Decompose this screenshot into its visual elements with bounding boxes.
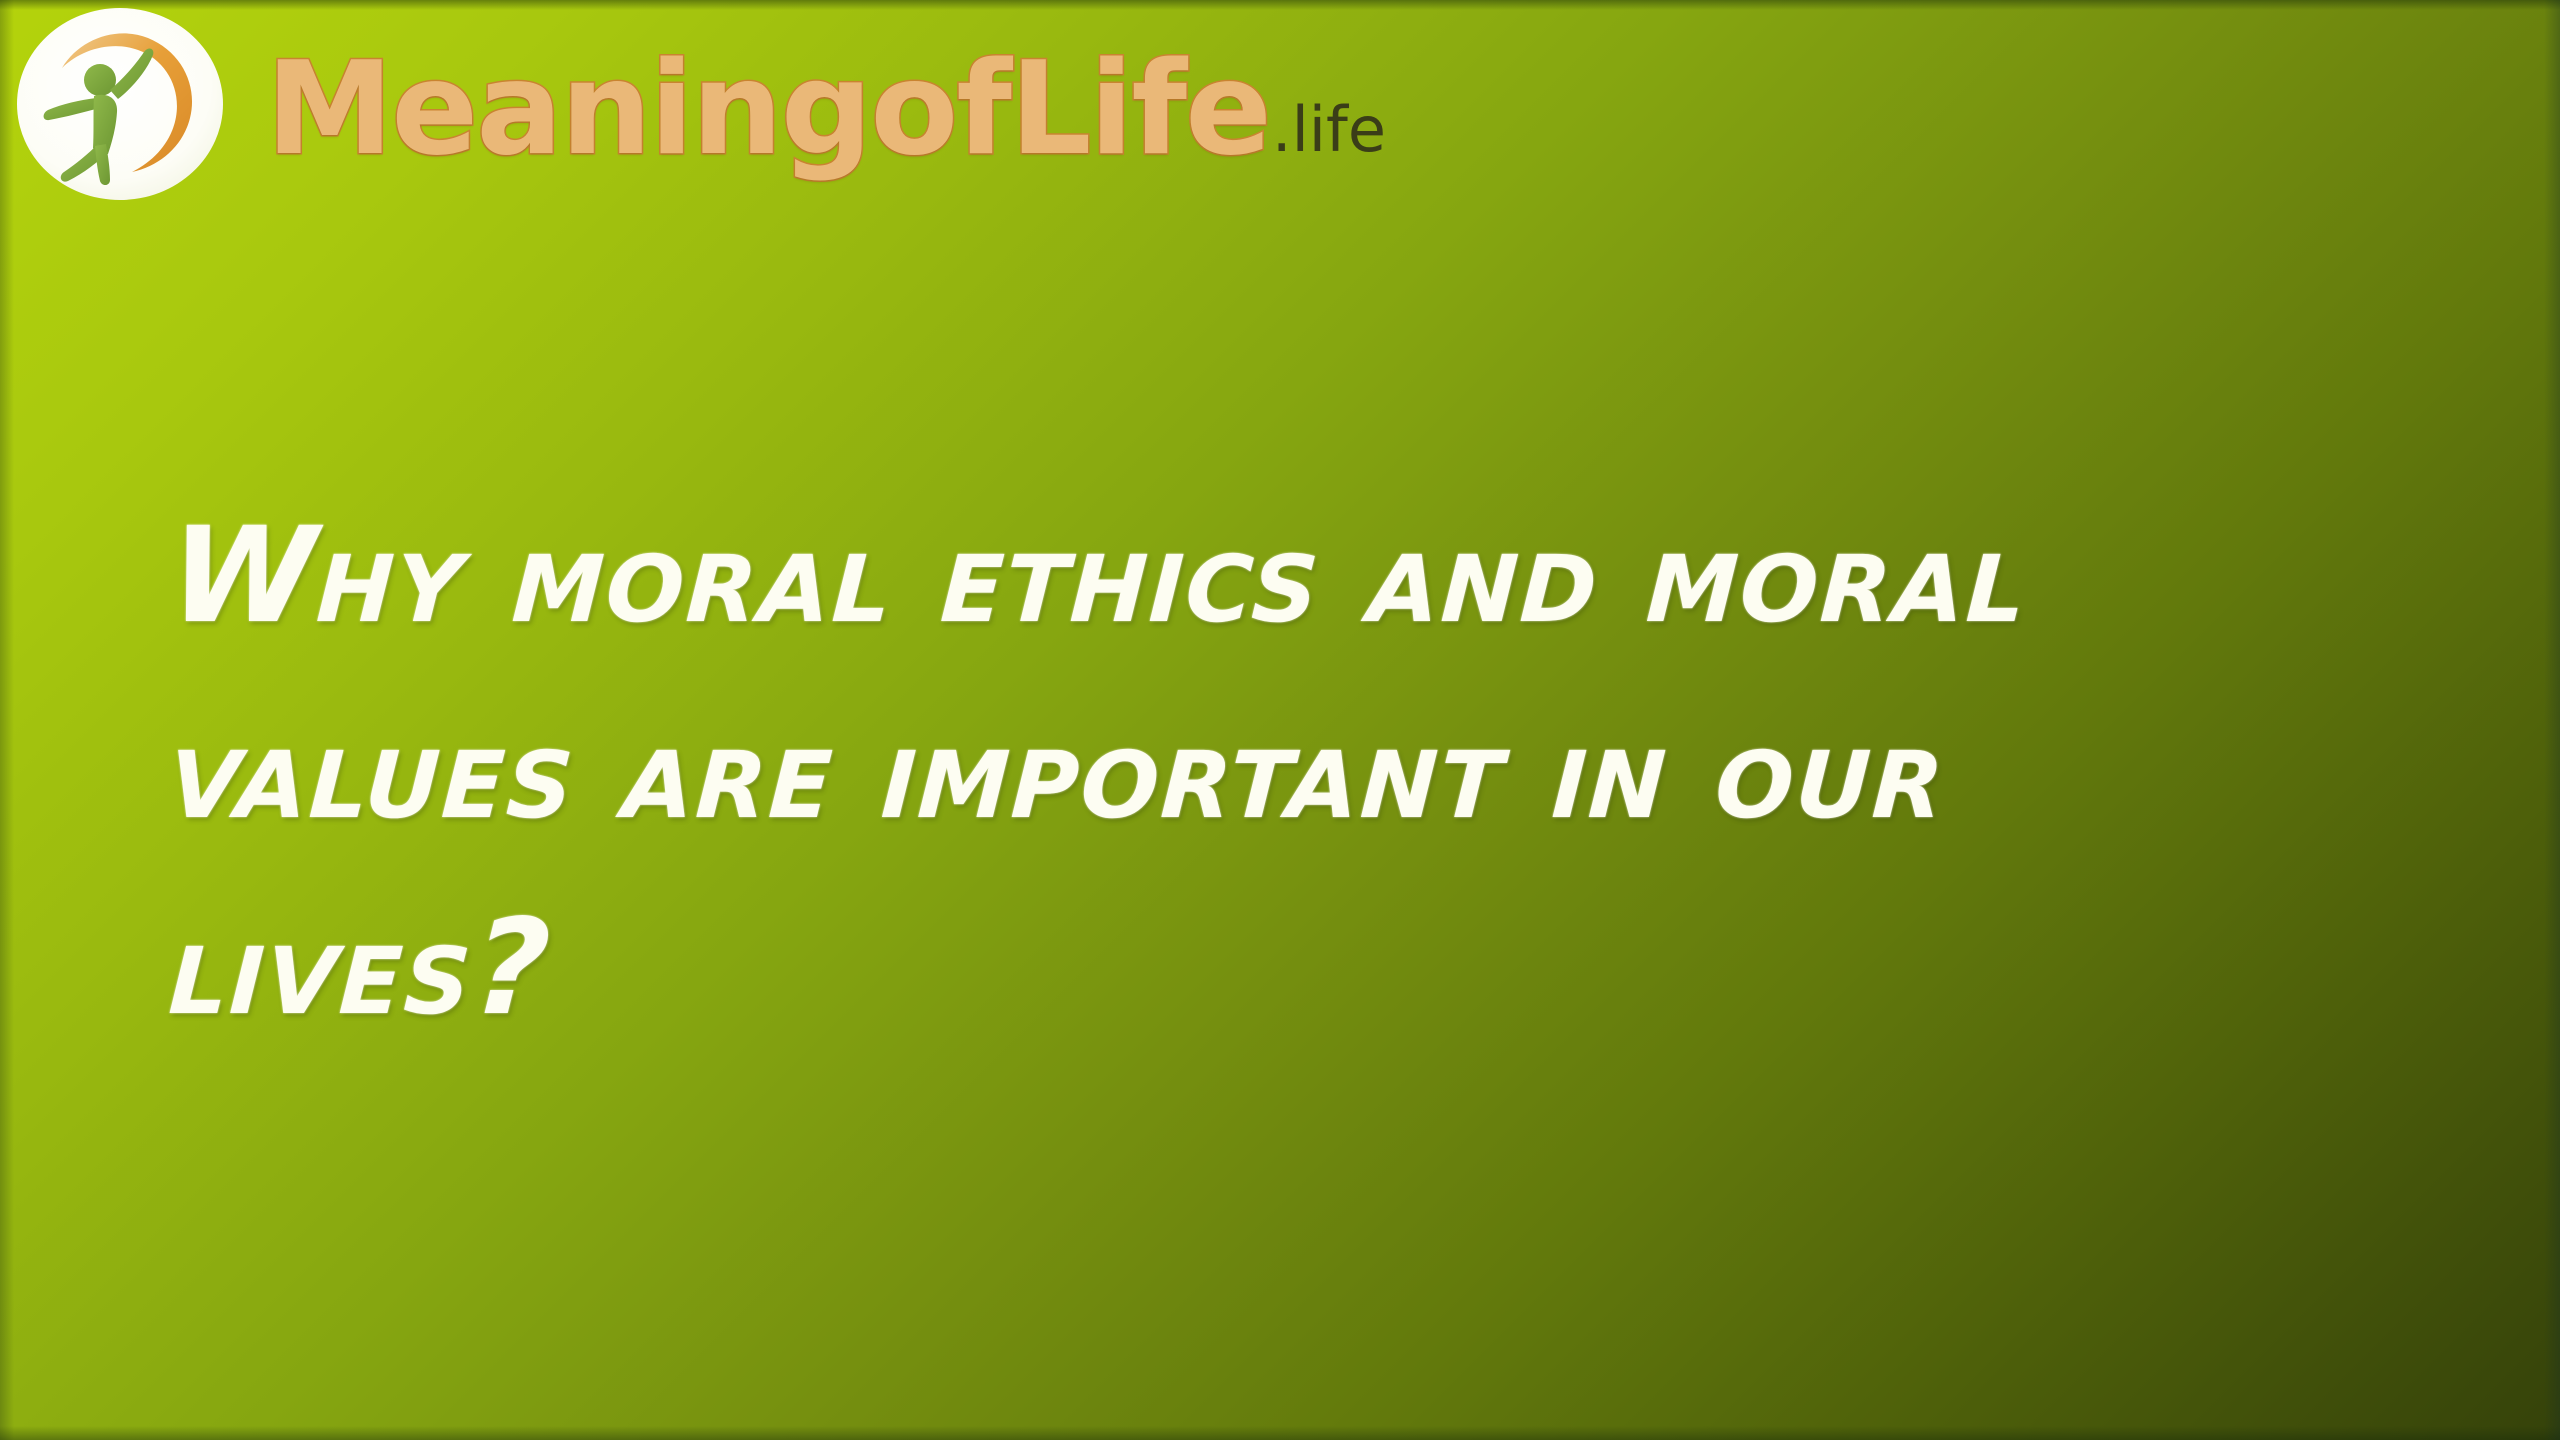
brand-name: MeaningofLife (266, 46, 1270, 174)
page-title-line-3: lives? (165, 870, 2475, 1066)
jumping-person-in-circle-icon (14, 4, 226, 204)
page-title-line-2: values are important in our (165, 674, 2475, 870)
bottom-edge-shade (0, 1426, 2560, 1440)
brand-lockup[interactable]: MeaningofLife .life (14, 4, 1386, 204)
left-edge-shade (0, 0, 14, 1440)
brand-wordmark[interactable]: MeaningofLife .life (266, 46, 1386, 174)
page-title: Why moral ethics and moral values are im… (170, 478, 2470, 1066)
brand-tld: .life (1272, 99, 1386, 161)
page-title-line-1: Why moral ethics and moral (165, 478, 2475, 674)
slide-canvas: MeaningofLife .life Why moral ethics and… (0, 0, 2560, 1440)
right-edge-shade (2544, 0, 2560, 1440)
